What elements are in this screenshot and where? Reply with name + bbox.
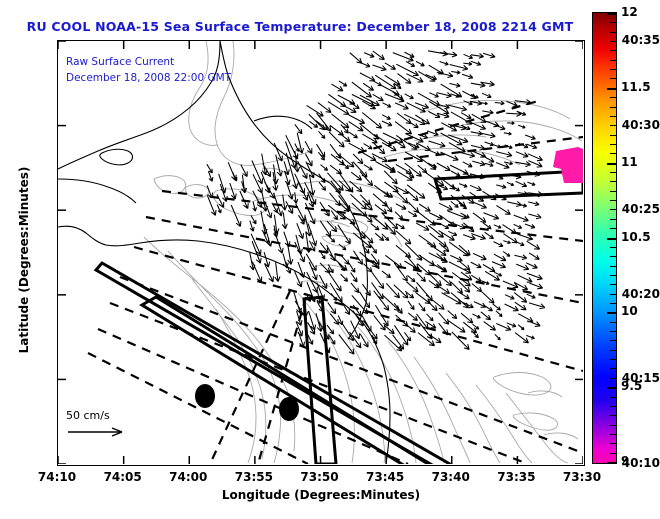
scale-label: 50 cm/s: [66, 409, 130, 422]
colorbar-minor-tick: [610, 350, 616, 351]
colorbar-tick-label: 10.5: [621, 230, 651, 244]
colorbar-minor-tick: [610, 247, 616, 248]
station-marker-east: [279, 397, 299, 421]
colorbar-minor-tick: [610, 97, 616, 98]
colorbar-minor-tick: [610, 22, 616, 23]
y-axis-label: Latitude (Degrees:Minutes): [17, 160, 31, 360]
colorbar-minor-tick: [610, 200, 616, 201]
x-tick-label: 73:45: [355, 470, 415, 484]
colorbar-minor-tick: [610, 172, 616, 173]
colorbar-minor-tick: [610, 368, 616, 369]
colorbar-minor-tick: [610, 322, 616, 323]
map-canvas: [58, 41, 583, 464]
x-axis-label: Longitude (Degrees:Minutes): [57, 488, 585, 502]
station-marker-west: [195, 384, 215, 408]
colorbar-major-tick: [607, 387, 616, 389]
colorbar-minor-tick: [610, 359, 616, 360]
x-tick-label: 73:55: [224, 470, 284, 484]
x-tick-label: 73:30: [552, 470, 612, 484]
colorbar-minor-tick: [610, 340, 616, 341]
colorbar-minor-tick: [610, 125, 616, 126]
colorbar-minor-tick: [610, 378, 616, 379]
figure-title: RU COOL NOAA-15 Sea Surface Temperature:…: [0, 19, 600, 34]
map-plot-area[interactable]: Raw Surface Current December 18, 2008 22…: [57, 40, 585, 466]
colorbar-minor-tick: [610, 69, 616, 70]
colorbar-minor-tick: [610, 397, 616, 398]
colorbar-minor-tick: [610, 256, 616, 257]
colorbar-minor-tick: [610, 331, 616, 332]
x-tick-label: 73:50: [290, 470, 350, 484]
colorbar-minor-tick: [610, 116, 616, 117]
colorbar-major-tick: [607, 88, 616, 90]
right-arrow-icon: [66, 425, 130, 439]
annotation-line-1: Raw Surface Current: [66, 56, 174, 68]
colorbar-minor-tick: [610, 60, 616, 61]
colorbar-minor-tick: [610, 275, 616, 276]
vector-scale-legend: 50 cm/s: [66, 409, 130, 443]
colorbar-major-tick: [607, 462, 616, 464]
colorbar-minor-tick: [610, 303, 616, 304]
colorbar-minor-tick: [610, 434, 616, 435]
colorbar-minor-tick: [610, 50, 616, 51]
x-tick-label: 74:05: [93, 470, 153, 484]
colorbar-minor-tick: [610, 41, 616, 42]
colorbar-minor-tick: [610, 406, 616, 407]
colorbar-minor-tick: [610, 181, 616, 182]
colorbar-minor-tick: [610, 135, 616, 136]
colorbar-tick-label: 12: [621, 5, 638, 19]
colorbar-minor-tick: [610, 219, 616, 220]
colorbar-minor-tick: [610, 107, 616, 108]
x-tick-label: 74:10: [27, 470, 87, 484]
station-markers: [195, 384, 299, 421]
colorbar-minor-tick: [610, 144, 616, 145]
colorbar-minor-tick: [610, 153, 616, 154]
colorbar-major-tick: [607, 13, 616, 15]
colorbar-major-tick: [607, 312, 616, 314]
y-tick-label: 40:10: [612, 456, 660, 470]
colorbar-minor-tick: [610, 453, 616, 454]
colorbar-minor-tick: [610, 32, 616, 33]
sst-magenta-patch: [553, 147, 583, 183]
colorbar-minor-tick: [610, 284, 616, 285]
colorbar-minor-tick: [610, 294, 616, 295]
colorbar-minor-tick: [610, 425, 616, 426]
colorbar-tick-label: 9: [621, 454, 629, 468]
colorbar-minor-tick: [610, 266, 616, 267]
colorbar-major-tick: [607, 163, 616, 165]
colorbar-tick-label: 10: [621, 304, 638, 318]
colorbar-minor-tick: [610, 415, 616, 416]
colorbar-minor-tick: [610, 228, 616, 229]
y-tick-label: 40:25: [612, 202, 660, 216]
colorbar-tick-label: 9.5: [621, 379, 642, 393]
colorbar-minor-tick: [610, 78, 616, 79]
colorbar-minor-tick: [610, 443, 616, 444]
colorbar-minor-tick: [610, 209, 616, 210]
y-tick-label: 40:30: [612, 118, 660, 132]
temperature-colorbar[interactable]: [592, 12, 617, 464]
colorbar-tick-label: 11: [621, 155, 638, 169]
colorbar-minor-tick: [610, 191, 616, 192]
x-tick-label: 73:35: [486, 470, 546, 484]
colorbar-tick-label: 11.5: [621, 80, 651, 94]
x-tick-label: 73:40: [421, 470, 481, 484]
y-tick-label: 40:20: [612, 287, 660, 301]
sst-figure: RU COOL NOAA-15 Sea Surface Temperature:…: [0, 0, 660, 519]
colorbar-major-tick: [607, 238, 616, 240]
y-tick-label: 40:35: [612, 33, 660, 47]
annotation-line-2: December 18, 2008 22:00 GMT: [66, 72, 231, 84]
x-tick-label: 74:00: [158, 470, 218, 484]
